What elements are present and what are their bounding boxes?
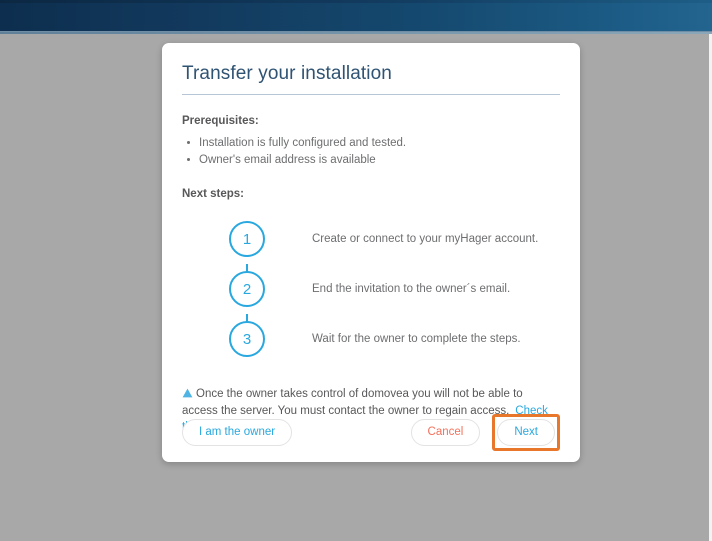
list-item: Installation is fully configured and tes… bbox=[182, 135, 560, 151]
step-item-3: 3 Wait for the owner to complete the ste… bbox=[182, 314, 560, 364]
list-item-label: Owner's email address is available bbox=[199, 154, 376, 166]
warning-triangle-icon bbox=[182, 387, 193, 403]
page-title: Transfer your installation bbox=[182, 61, 560, 95]
app-header-bar bbox=[0, 0, 712, 32]
bullet-icon bbox=[187, 158, 190, 161]
list-item: Owner's email address is available bbox=[182, 152, 560, 168]
prerequisites-label: Prerequisites: bbox=[182, 115, 560, 127]
prerequisites-list: Installation is fully configured and tes… bbox=[182, 135, 560, 168]
step-item-2: 2 End the invitation to the owner´s emai… bbox=[182, 264, 560, 314]
step-marker-2: 2 bbox=[182, 271, 312, 307]
transfer-installation-dialog: Transfer your installation Prerequisites… bbox=[162, 43, 580, 462]
step-item-1: 1 Create or connect to your myHager acco… bbox=[182, 214, 560, 264]
cancel-button[interactable]: Cancel bbox=[411, 419, 481, 446]
list-item-label: Installation is fully configured and tes… bbox=[199, 137, 406, 149]
i-am-the-owner-button[interactable]: I am the owner bbox=[182, 419, 292, 446]
steps-list: 1 Create or connect to your myHager acco… bbox=[182, 214, 560, 364]
step-number-badge: 3 bbox=[229, 321, 265, 357]
step-description: End the invitation to the owner´s email. bbox=[312, 282, 510, 297]
next-button[interactable]: Next bbox=[497, 419, 555, 446]
next-button-focus-ring: Next bbox=[492, 414, 560, 451]
step-marker-1: 1 bbox=[182, 221, 312, 257]
header-bar-underline bbox=[0, 32, 712, 34]
dialog-footer: I am the owner Cancel Next bbox=[162, 402, 580, 462]
step-description: Wait for the owner to complete the steps… bbox=[312, 332, 521, 347]
step-marker-3: 3 bbox=[182, 321, 312, 357]
header-bar-sheen bbox=[0, 0, 712, 3]
dialog-body: Transfer your installation Prerequisites… bbox=[162, 43, 580, 435]
next-steps-label: Next steps: bbox=[182, 188, 560, 200]
bullet-icon bbox=[187, 141, 190, 144]
step-description: Create or connect to your myHager accoun… bbox=[312, 232, 538, 247]
step-number-badge: 2 bbox=[229, 271, 265, 307]
app-root: Transfer your installation Prerequisites… bbox=[0, 0, 712, 541]
step-number-badge: 1 bbox=[229, 221, 265, 257]
